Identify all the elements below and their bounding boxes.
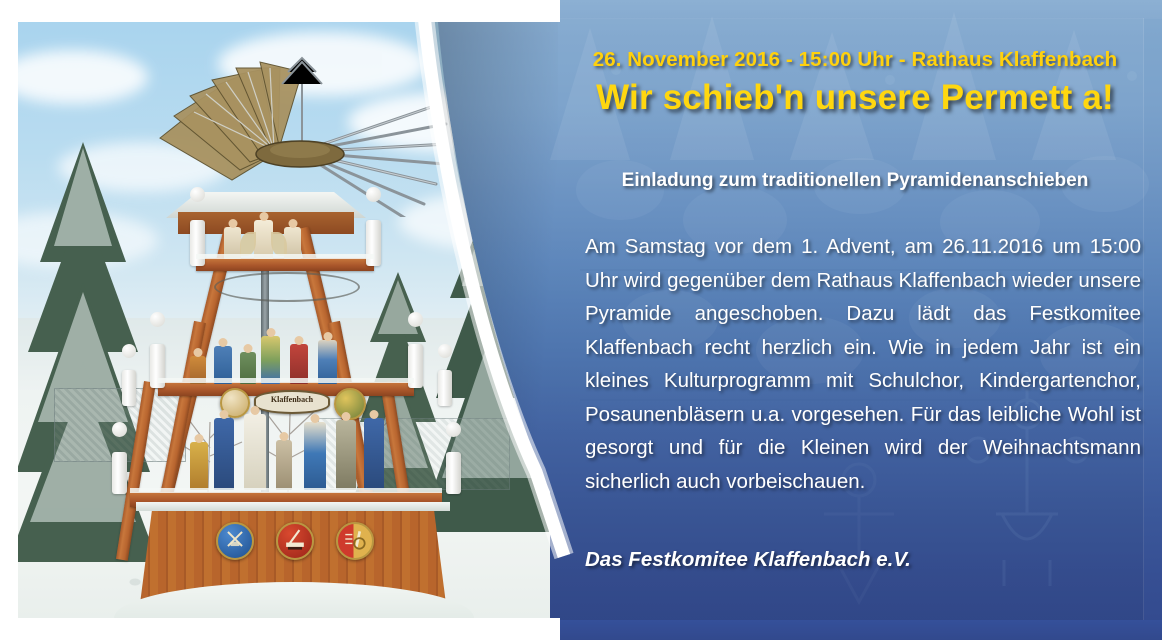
poster-headline: Wir schieb'n unsere Permett a! [566, 78, 1144, 118]
emblem-hammer-pick [276, 522, 314, 560]
margin-left [0, 0, 18, 640]
base-snow-cap [136, 502, 450, 511]
child-figure [190, 442, 208, 490]
margin-bottom [0, 618, 560, 640]
poster-canvas: Klaffenbach [0, 0, 1162, 640]
worker-figure [261, 336, 280, 384]
text-column: 26. November 2016 - 15:00 Uhr - Rathaus … [566, 0, 1146, 640]
candle-post [122, 370, 136, 406]
baker-figure [244, 414, 266, 490]
candle-post [446, 452, 461, 494]
emblem-crossed-tools [216, 522, 254, 560]
musician-figure [364, 418, 384, 490]
snow-dust [196, 254, 374, 259]
musician-figure [214, 418, 234, 490]
candle-post [438, 370, 452, 406]
village-sign: Klaffenbach [254, 390, 330, 414]
iron-ring [214, 272, 360, 302]
woman-figure [304, 422, 326, 490]
candle-post [366, 220, 381, 266]
deck-tier1 [196, 258, 374, 271]
candle-post [190, 220, 205, 266]
poster-body-text: Am Samstag vor dem 1. Advent, am 26.11.2… [585, 230, 1141, 498]
margin-top [0, 0, 560, 22]
pyramid-fan [48, 32, 448, 217]
emblem-shield-gold [336, 522, 374, 560]
poster-subtitle: Einladung zum traditionellen Pyramidenan… [566, 170, 1144, 192]
snow-dust [158, 378, 414, 383]
poster-signature: Das Festkomitee Klaffenbach e.V. [585, 548, 1141, 572]
candle-post [112, 452, 127, 494]
snow-dust [130, 488, 442, 493]
man-figure [336, 420, 356, 490]
event-kicker: 26. November 2016 - 15:00 Uhr - Rathaus … [566, 48, 1144, 72]
child-figure [276, 440, 292, 490]
